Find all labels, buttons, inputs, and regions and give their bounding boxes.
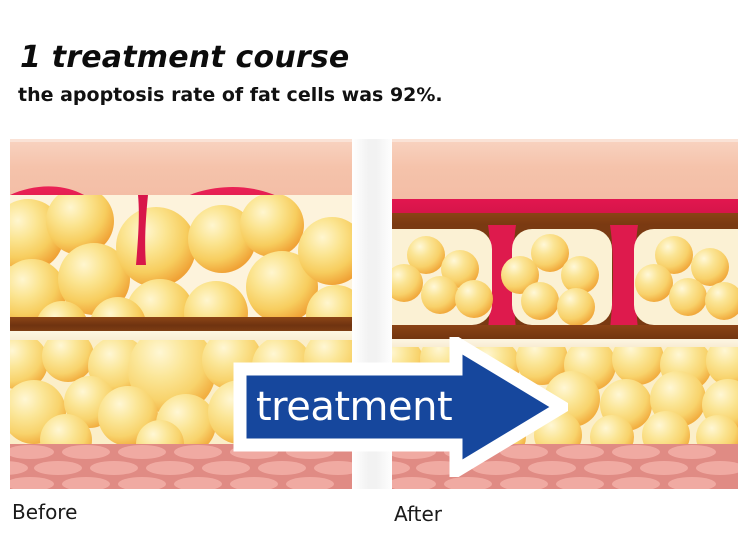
infographic-root: 1 treatment course the apoptosis rate of… [0, 0, 750, 554]
fat-lobules-after [392, 225, 738, 329]
skin-layer-after [392, 139, 738, 201]
arrow-label: treatment [256, 384, 452, 430]
caption-before: Before [12, 500, 77, 524]
page-subtitle: the apoptosis rate of fat cells was 92%. [18, 84, 443, 106]
treatment-arrow[interactable]: treatment [232, 337, 568, 477]
fascia-brown-before [10, 317, 352, 331]
septa-band-after [392, 199, 738, 213]
page-title: 1 treatment course [20, 40, 349, 75]
caption-after: After [394, 502, 442, 526]
fat-cells-upper-before [10, 195, 352, 335]
